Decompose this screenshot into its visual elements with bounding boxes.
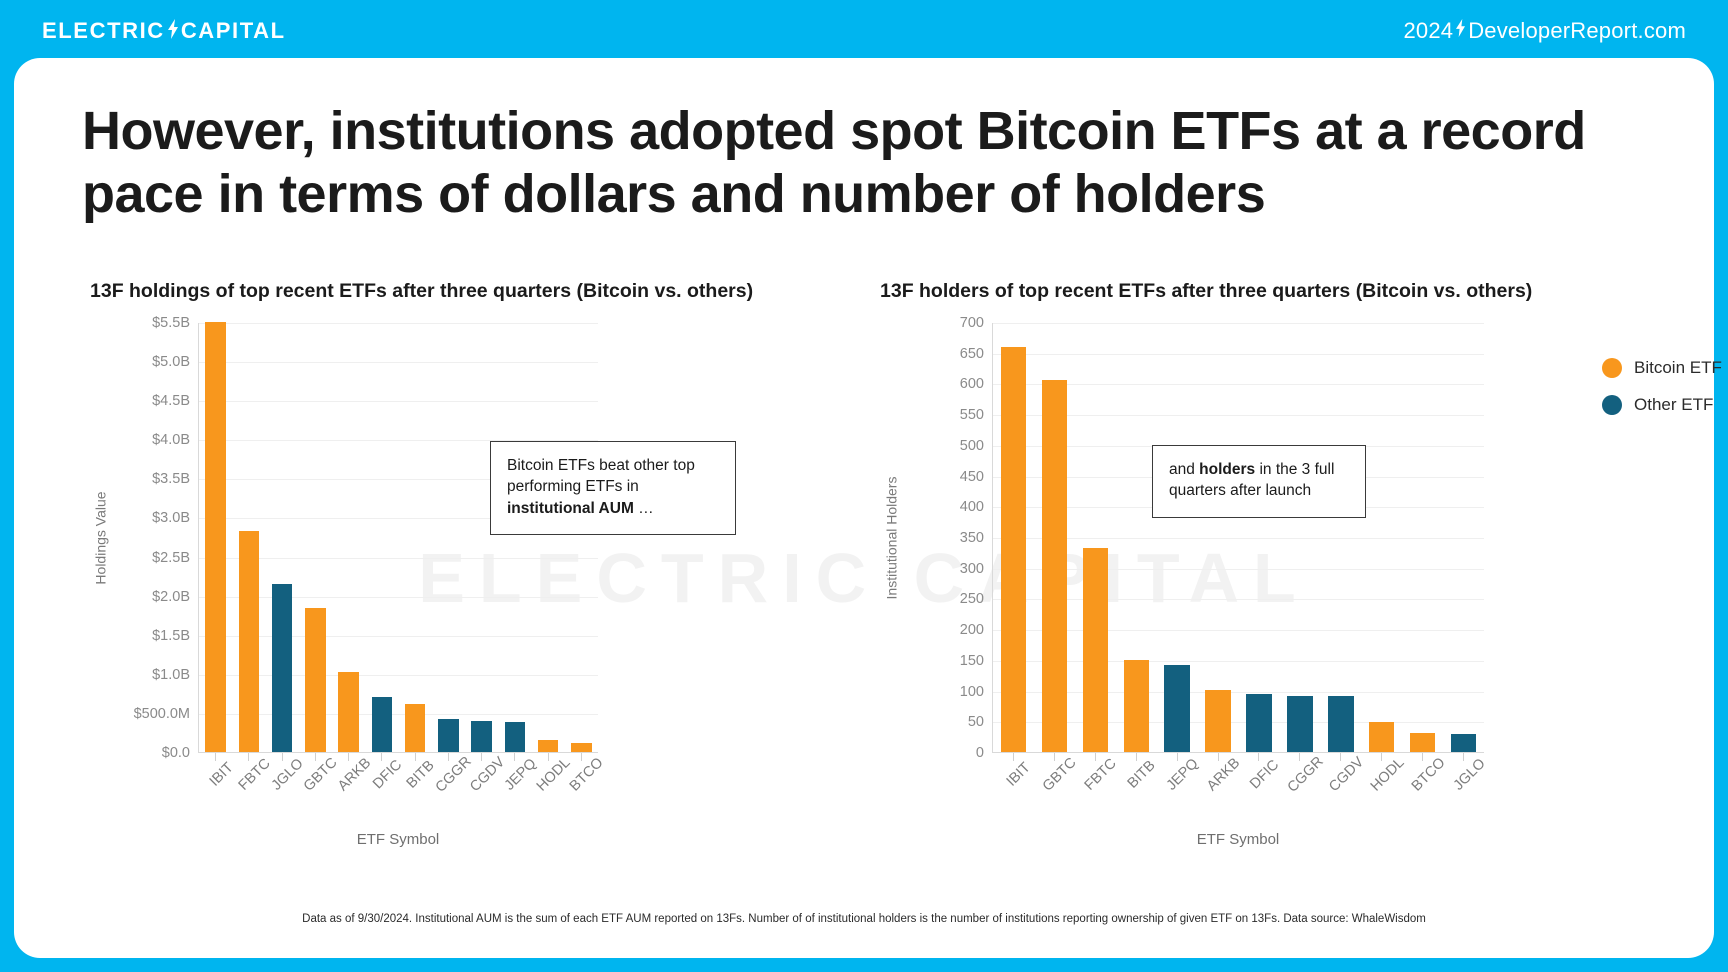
x-axis-labels-holdings: IBITFBTCJGLOGBTCARKBDFICBITBCGGRCGDVJEPQ…	[199, 763, 598, 833]
x-label-slot: BITB	[1116, 763, 1157, 833]
bar-gbtc[interactable]	[1042, 380, 1067, 752]
electric-capital-logo: ELECTRIC CAPITAL	[42, 18, 286, 44]
x-label-slot: HODL	[532, 763, 565, 833]
y-axis-tick-label: $500.0M	[134, 706, 190, 722]
y-axis-label-holders: Institutional Holders	[880, 323, 902, 753]
x-label-slot: GBTC	[299, 763, 332, 833]
bar-arkb[interactable]	[338, 672, 359, 752]
bar-slot	[199, 323, 232, 752]
y-axis-tick-label: 300	[960, 561, 984, 577]
x-tick-mark	[548, 753, 549, 761]
bar-hodl[interactable]	[538, 740, 559, 753]
x-axis-label-ibit: IBIT	[1004, 760, 1034, 790]
bar-slot	[1361, 323, 1402, 752]
x-tick-mark	[415, 753, 416, 761]
chart-title-holders: 13F holders of top recent ETFs after thr…	[880, 280, 1670, 303]
logo-text-electric: ELECTRIC	[42, 18, 165, 44]
bar-cgdv[interactable]	[471, 721, 492, 752]
x-label-slot: IBIT	[993, 763, 1034, 833]
x-axis-title-holders: ETF Symbol	[992, 831, 1484, 848]
bar-slot	[1116, 323, 1157, 752]
page-header: ELECTRIC CAPITAL 2024 DeveloperReport.co…	[0, 0, 1728, 62]
legend-color-swatch	[1602, 358, 1622, 378]
bar-slot	[1239, 323, 1280, 752]
chart-panel-holdings: 13F holdings of top recent ETFs after th…	[90, 280, 880, 853]
bar-cgdv[interactable]	[1328, 696, 1353, 752]
x-tick-mark	[1340, 753, 1341, 761]
y-axis-tick-label: 400	[960, 499, 984, 515]
y-axis-ticks-holdings: $0.0$500.0M$1.0B$1.5B$2.0B$2.5B$3.0B$3.5…	[112, 323, 198, 753]
x-label-slot: DFIC	[1239, 763, 1280, 833]
bar-slot	[1157, 323, 1198, 752]
bar-jepq[interactable]	[505, 722, 526, 752]
x-label-slot: BTCO	[1402, 763, 1443, 833]
plot-area-holders: IBITGBTCFBTCBITBJEPQARKBDFICCGGRCGDVHODL…	[992, 323, 1484, 753]
bar-jglo[interactable]	[1451, 734, 1476, 752]
x-label-slot: JEPQ	[1157, 763, 1198, 833]
x-axis-label-bitb: BITB	[1125, 758, 1159, 792]
bar-btco[interactable]	[571, 743, 592, 752]
x-label-slot: ARKB	[332, 763, 365, 833]
x-label-slot: BITB	[399, 763, 432, 833]
bar-bitb[interactable]	[1124, 660, 1149, 752]
bar-slot	[1279, 323, 1320, 752]
y-axis-tick-label: $0.0	[162, 745, 190, 761]
x-tick-mark	[481, 753, 482, 761]
bar-dfic[interactable]	[1246, 694, 1271, 752]
callout-bold: holders	[1199, 461, 1255, 478]
y-axis-ticks-holders: 0501001502002503003504004505005506006507…	[906, 323, 992, 753]
legend-label: Bitcoin ETF	[1634, 358, 1722, 378]
report-site: DeveloperReport.com	[1468, 18, 1686, 44]
x-tick-mark	[1095, 753, 1096, 761]
x-tick-mark	[514, 753, 515, 761]
bar-slot	[299, 323, 332, 752]
y-axis-tick-label: 100	[960, 684, 984, 700]
bar-slot	[232, 323, 265, 752]
x-label-slot: FBTC	[1075, 763, 1116, 833]
x-tick-mark	[1258, 753, 1259, 761]
y-axis-tick-label: $1.0B	[152, 667, 190, 683]
bar-slot	[565, 323, 598, 752]
x-label-slot: FBTC	[232, 763, 265, 833]
bar-cggr[interactable]	[1287, 696, 1312, 753]
y-axis-tick-label: 150	[960, 653, 984, 669]
x-label-slot: JGLO	[266, 763, 299, 833]
bar-hodl[interactable]	[1369, 722, 1394, 752]
bar-slot	[332, 323, 365, 752]
bar-slot	[399, 323, 432, 752]
x-tick-slot	[993, 753, 1034, 763]
x-label-slot: CGGR	[1279, 763, 1320, 833]
x-tick-mark	[348, 753, 349, 761]
x-tick-mark	[581, 753, 582, 761]
x-tick-mark	[1422, 753, 1423, 761]
x-label-slot: ARKB	[1198, 763, 1239, 833]
x-label-slot: CGGR	[432, 763, 465, 833]
x-label-slot: IBIT	[199, 763, 232, 833]
x-tick-mark	[448, 753, 449, 761]
legend-item[interactable]: Bitcoin ETF	[1602, 358, 1722, 378]
bar-dfic[interactable]	[372, 697, 393, 753]
x-label-slot: JGLO	[1443, 763, 1484, 833]
bar-slot	[1034, 323, 1075, 752]
callout-line-3-bold: institutional AUM	[507, 500, 634, 517]
developer-report-link[interactable]: 2024 DeveloperReport.com	[1403, 18, 1686, 44]
bar-slot	[1320, 323, 1361, 752]
y-axis-tick-label: 0	[976, 745, 984, 761]
bar-slot	[432, 323, 465, 752]
x-tick-mark	[215, 753, 216, 761]
legend-item[interactable]: Other ETF	[1602, 395, 1722, 415]
bar-btco[interactable]	[1410, 733, 1435, 752]
x-tick-mark	[282, 753, 283, 761]
bar-slot	[1075, 323, 1116, 752]
callout-line-3-rest: …	[634, 500, 654, 517]
x-tick-mark	[1218, 753, 1219, 761]
y-axis-label-holdings: Holdings Value	[90, 323, 112, 753]
bar-ibit[interactable]	[1001, 347, 1026, 752]
y-axis-tick-label: $4.5B	[152, 393, 190, 409]
chart-title-holdings: 13F holdings of top recent ETFs after th…	[90, 280, 880, 303]
y-axis-tick-label: 250	[960, 591, 984, 607]
x-label-slot: GBTC	[1034, 763, 1075, 833]
x-label-slot: CGDV	[1320, 763, 1361, 833]
x-label-slot: HODL	[1361, 763, 1402, 833]
bar-bitb[interactable]	[405, 704, 426, 752]
y-axis-tick-label: $4.0B	[152, 432, 190, 448]
callout-pre: and	[1169, 461, 1199, 478]
y-axis-tick-label: 650	[960, 346, 984, 362]
bar-ibit[interactable]	[205, 322, 226, 752]
y-axis-tick-label: 500	[960, 438, 984, 454]
x-axis-labels-holders: IBITGBTCFBTCBITBJEPQARKBDFICCGGRCGDVHODL…	[993, 763, 1484, 833]
bar-slot	[1198, 323, 1239, 752]
x-label-slot: BTCO	[565, 763, 598, 833]
x-label-slot: JEPQ	[498, 763, 531, 833]
x-tick-mark	[1381, 753, 1382, 761]
y-axis-tick-label: $2.0B	[152, 589, 190, 605]
bar-fbtc[interactable]	[1083, 548, 1108, 752]
y-axis-tick-label: 350	[960, 530, 984, 546]
legend-color-swatch	[1602, 395, 1622, 415]
bar-slot	[266, 323, 299, 752]
y-axis-tick-label: $2.5B	[152, 550, 190, 566]
callout-holdings: Bitcoin ETFs beat other top performing E…	[490, 441, 736, 535]
x-axis-label-dfic: DFIC	[1247, 757, 1282, 792]
y-axis-tick-label: 700	[960, 315, 984, 331]
x-tick-mark	[1136, 753, 1137, 761]
y-axis-tick-label: 550	[960, 407, 984, 423]
x-tick-mark	[315, 753, 316, 761]
bar-series-holders	[993, 323, 1484, 752]
bar-slot	[365, 323, 398, 752]
content-card: However, institutions adopted spot Bitco…	[14, 58, 1714, 958]
bar-slot	[498, 323, 531, 752]
bar-slot	[465, 323, 498, 752]
x-tick-mark	[248, 753, 249, 761]
y-axis-tick-label: 450	[960, 469, 984, 485]
plot-area-holdings: IBITFBTCJGLOGBTCARKBDFICBITBCGGRCGDVJEPQ…	[198, 323, 598, 753]
bar-gbtc[interactable]	[305, 608, 326, 752]
y-axis-tick-label: 50	[968, 714, 984, 730]
x-label-slot: DFIC	[365, 763, 398, 833]
page-title: However, institutions adopted spot Bitco…	[82, 100, 1642, 226]
x-tick-mark	[1463, 753, 1464, 761]
x-axis-title-holdings: ETF Symbol	[198, 831, 598, 848]
bar-jepq[interactable]	[1164, 665, 1189, 752]
y-axis-tick-label: $5.5B	[152, 315, 190, 331]
x-tick-mark	[1013, 753, 1014, 761]
bar-arkb[interactable]	[1205, 690, 1230, 752]
x-tick-mark	[1177, 753, 1178, 761]
callout-line-1: Bitcoin ETFs beat other top	[507, 457, 695, 474]
lightning-bolt-icon	[167, 19, 179, 43]
bar-slot	[532, 323, 565, 752]
y-axis-tick-label: $1.5B	[152, 628, 190, 644]
callout-line-2: performing ETFs in	[507, 478, 639, 495]
logo-text-capital: CAPITAL	[181, 18, 286, 44]
report-year: 2024	[1403, 18, 1453, 44]
x-label-slot: CGDV	[465, 763, 498, 833]
bar-cggr[interactable]	[438, 719, 459, 752]
chart-legend: Bitcoin ETFOther ETF	[1602, 358, 1722, 432]
chart-panel-holders: 13F holders of top recent ETFs after thr…	[880, 280, 1670, 853]
y-axis-tick-label: $5.0B	[152, 354, 190, 370]
bar-slot	[1402, 323, 1443, 752]
y-axis-tick-label: $3.0B	[152, 510, 190, 526]
y-axis-tick-label: 200	[960, 622, 984, 638]
bar-jglo[interactable]	[272, 584, 293, 752]
bar-slot	[1443, 323, 1484, 752]
x-tick-mark	[1299, 753, 1300, 761]
y-axis-tick-label: $3.5B	[152, 471, 190, 487]
bar-slot	[993, 323, 1034, 752]
bar-fbtc[interactable]	[239, 531, 260, 752]
lightning-bolt-icon	[1455, 19, 1466, 43]
bar-series-holdings	[199, 323, 598, 752]
callout-holders: and holders in the 3 full quarters after…	[1152, 445, 1366, 518]
legend-label: Other ETF	[1634, 395, 1713, 415]
y-axis-tick-label: 600	[960, 376, 984, 392]
x-tick-mark	[381, 753, 382, 761]
footnote: Data as of 9/30/2024. Institutional AUM …	[14, 913, 1714, 925]
x-tick-mark	[1054, 753, 1055, 761]
